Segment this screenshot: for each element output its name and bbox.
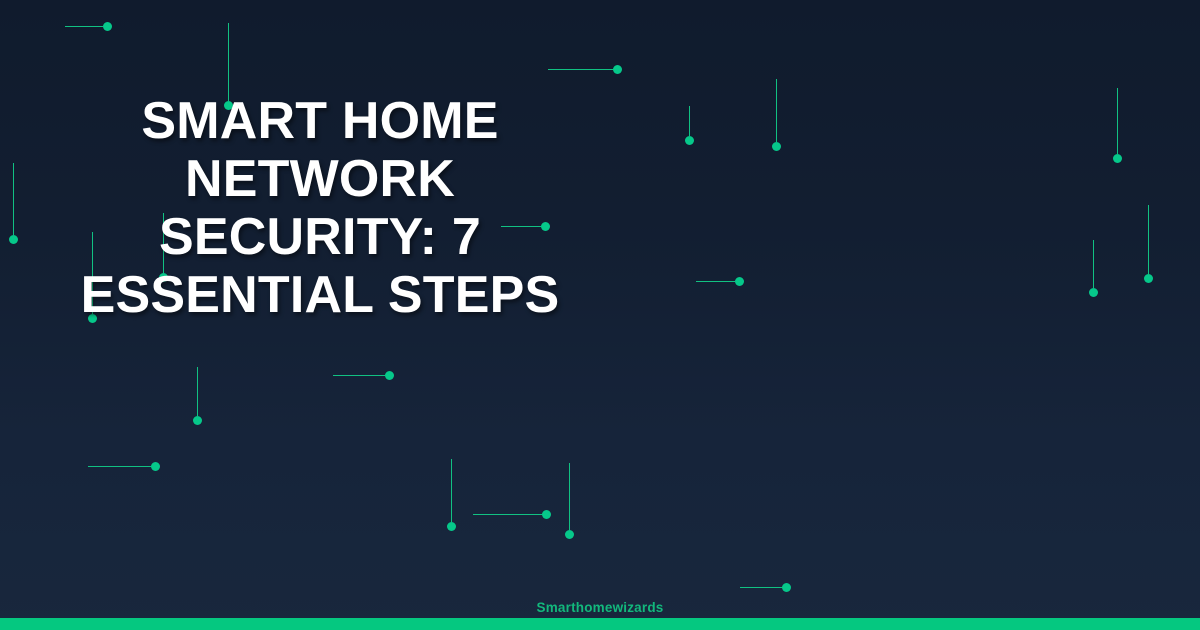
accent-line-segment — [333, 375, 385, 377]
accent-line-segment — [88, 466, 151, 468]
accent-dot-icon — [542, 510, 551, 519]
accent-dot-icon — [385, 371, 394, 380]
accent-dot-icon — [613, 65, 622, 74]
accent-dot-icon — [772, 142, 781, 151]
accent-line-v-7-icon — [1144, 205, 1153, 283]
banner-canvas: SMART HOME NETWORK SECURITY: 7 ESSENTIAL… — [0, 0, 1200, 630]
accent-dot-icon — [1144, 274, 1153, 283]
accent-line-h-4-icon — [696, 277, 744, 286]
accent-line-v-12-icon — [565, 463, 574, 539]
accent-line-segment — [65, 26, 103, 28]
accent-line-h-2-icon — [548, 65, 622, 74]
accent-line-segment — [689, 106, 691, 136]
accent-line-v-4-icon — [1113, 88, 1122, 163]
accent-line-v-10-icon — [193, 367, 202, 425]
bottom-accent-bar — [0, 618, 1200, 630]
accent-line-segment — [1148, 205, 1150, 274]
accent-line-h-1-icon — [65, 22, 112, 31]
page-title: SMART HOME NETWORK SECURITY: 7 ESSENTIAL… — [0, 92, 640, 324]
accent-line-segment — [776, 79, 778, 142]
accent-dot-icon — [447, 522, 456, 531]
accent-dot-icon — [735, 277, 744, 286]
accent-dot-icon — [1113, 154, 1122, 163]
accent-line-v-3-icon — [772, 79, 781, 151]
accent-line-segment — [473, 514, 542, 516]
accent-line-segment — [696, 281, 735, 283]
accent-line-segment — [451, 459, 453, 522]
site-name-label: Smarthomewizards — [0, 600, 1200, 615]
accent-line-segment — [569, 463, 571, 530]
accent-line-h-6-icon — [88, 462, 160, 471]
accent-dot-icon — [1089, 288, 1098, 297]
accent-line-segment — [1117, 88, 1119, 154]
accent-line-h-5-icon — [333, 371, 394, 380]
accent-line-v-8-icon — [1089, 240, 1098, 297]
accent-line-v-2-icon — [685, 106, 694, 145]
accent-line-segment — [228, 23, 230, 101]
accent-dot-icon — [685, 136, 694, 145]
accent-dot-icon — [151, 462, 160, 471]
accent-dot-icon — [782, 583, 791, 592]
accent-line-h-7-icon — [473, 510, 551, 519]
accent-dot-icon — [193, 416, 202, 425]
accent-line-segment — [740, 587, 782, 589]
accent-line-segment — [548, 69, 613, 71]
accent-line-v-11-icon — [447, 459, 456, 531]
accent-dot-icon — [565, 530, 574, 539]
accent-line-segment — [1093, 240, 1095, 288]
accent-line-segment — [197, 367, 199, 416]
accent-dot-icon — [103, 22, 112, 31]
accent-line-h-8-icon — [740, 583, 791, 592]
